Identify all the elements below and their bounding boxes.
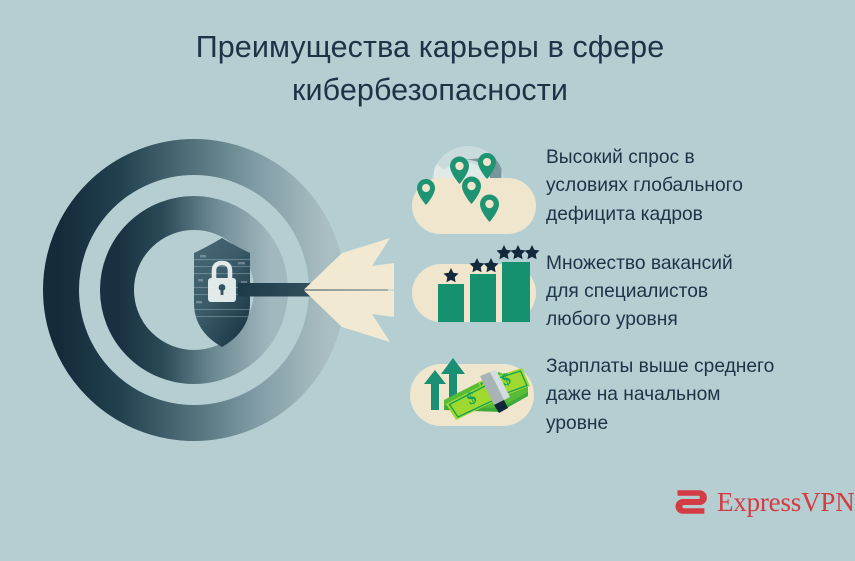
money-stack-with-up-arrows-icon: $ $ <box>404 338 544 448</box>
expressvpn-logo[interactable]: ExpressVPN <box>672 486 855 518</box>
target-graphic <box>42 135 402 455</box>
star-icon <box>525 245 540 259</box>
infographic-canvas: Преимущества карьеры в сфере кибербезопа… <box>0 0 855 561</box>
benefit-label: Зарплаты выше среднего даже на начальном… <box>544 353 844 438</box>
expressvpn-wordmark: ExpressVPN <box>717 489 855 516</box>
benefit-label: Множество вакансий для специалистов любо… <box>544 250 844 335</box>
benefit-label: Высокий спрос в условиях глобального деф… <box>544 144 844 229</box>
star-icon <box>497 245 512 259</box>
bar-level-2 <box>470 274 496 322</box>
bar-level-1 <box>438 284 464 322</box>
star-icon <box>511 245 526 259</box>
bar-chart-with-stars-icon <box>404 236 544 346</box>
globe-with-location-pins-icon <box>404 132 544 242</box>
page-title: Преимущества карьеры в сфере кибербезопа… <box>120 26 740 113</box>
benefit-item-high-salary: $ $ Зарплаты выше среднего даже на начал… <box>404 338 844 448</box>
expressvpn-e-logo-icon <box>672 486 710 518</box>
benefit-item-many-jobs: Множество вакансий для специалистов любо… <box>404 236 844 346</box>
bar-level-3 <box>502 262 530 322</box>
benefit-item-high-demand: Высокий спрос в условиях глобального деф… <box>404 132 844 242</box>
